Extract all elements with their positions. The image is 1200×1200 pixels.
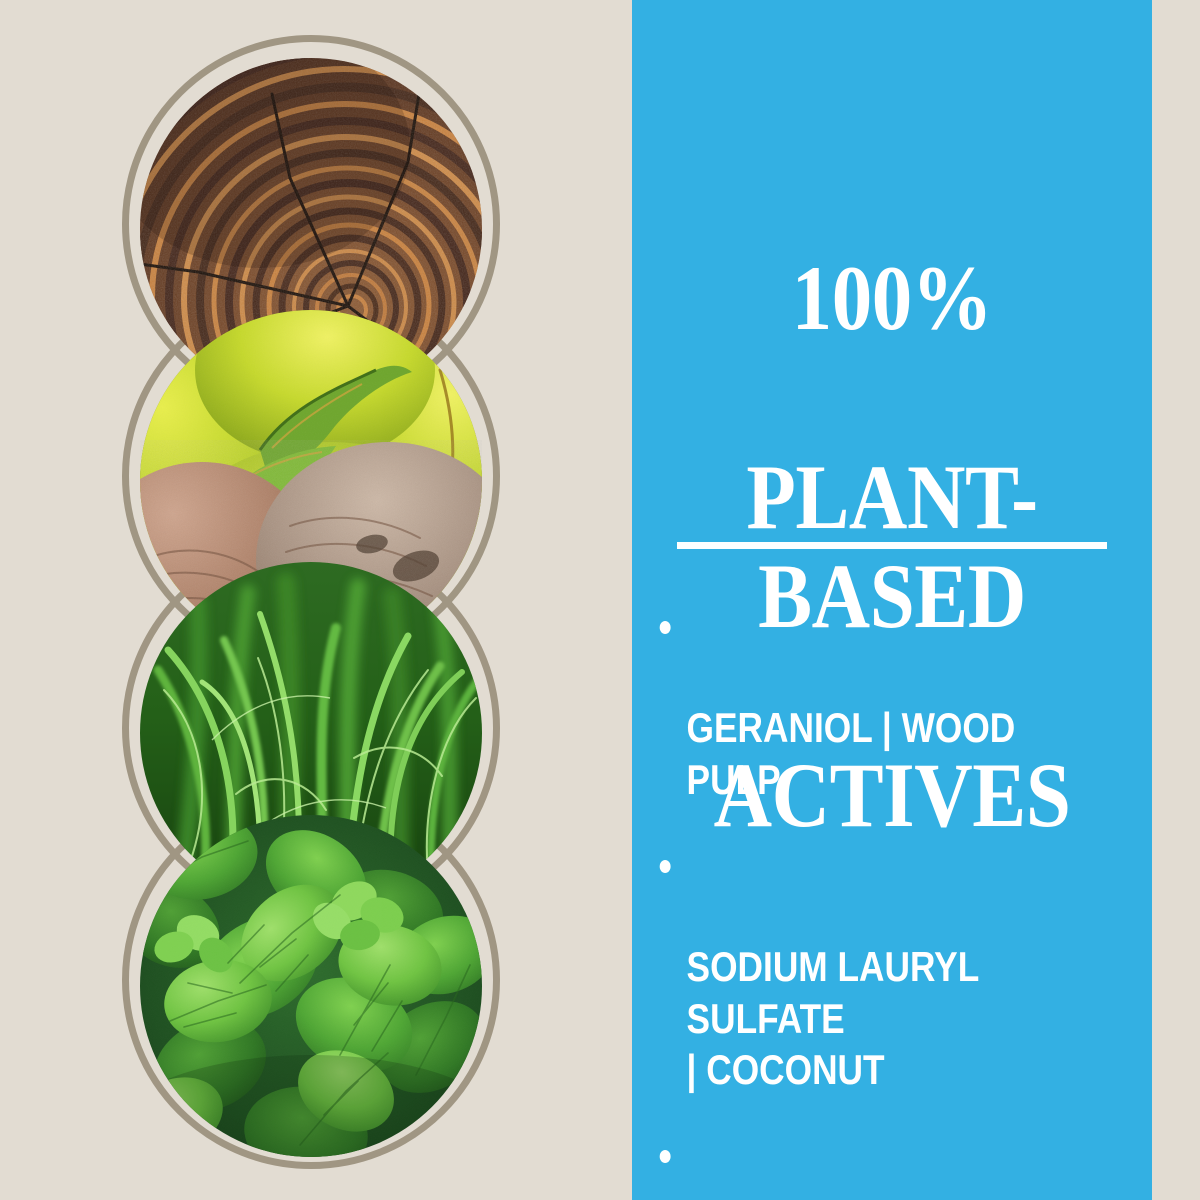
ingredient-label: SODIUM LAURYL SULFATE | COCONUT (687, 943, 979, 1092)
ingredient-photo-stack (0, 0, 632, 1200)
ingredient-list: GERANIOL | WOOD PULP SODIUM LAURYL SULFA… (658, 600, 1134, 1200)
list-item: GERANIOL | WOOD PULP (658, 600, 1058, 805)
bullet-dot-icon (660, 860, 671, 873)
bullet-dot-icon (660, 621, 671, 634)
headline-line-1: 100% (663, 249, 1121, 348)
list-item: SODIUM LAURYL SULFATE | COCONUT (658, 839, 1058, 1095)
ingredient-label: GERANIOL | WOOD PULP (687, 704, 1016, 802)
horizontal-rule (677, 542, 1107, 549)
bullet-dot-icon (660, 1150, 671, 1163)
peppermint-photo (140, 815, 482, 1157)
poster-canvas: 100% PLANT-BASED ACTIVES GERANIOL | WOOD… (0, 0, 1200, 1200)
list-item: LEMONGRASS OIL (658, 1129, 1058, 1200)
claims-panel: 100% PLANT-BASED ACTIVES GERANIOL | WOOD… (632, 0, 1152, 1200)
